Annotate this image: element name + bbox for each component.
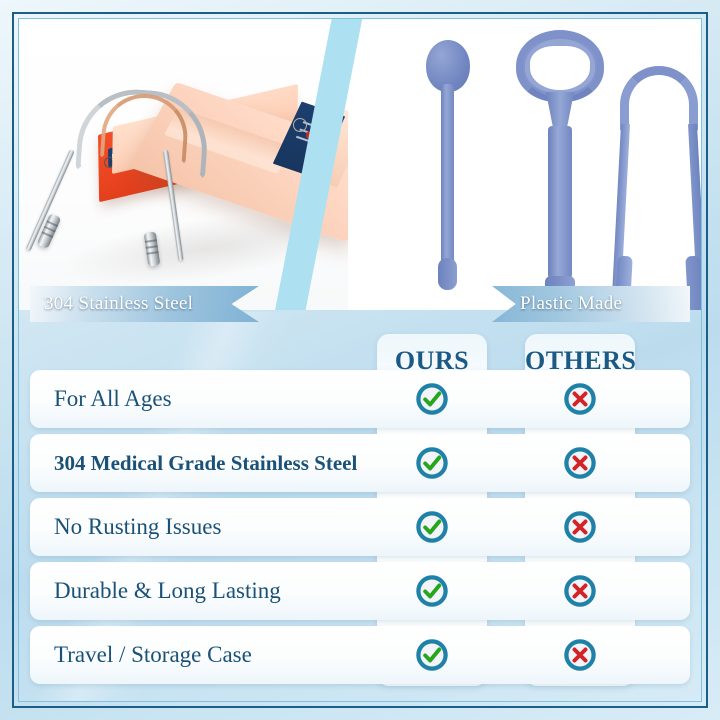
caption-banner-stainless-steel: 304 Stainless Steel	[30, 286, 259, 322]
table-row: Durable & Long Lasting	[30, 562, 690, 620]
caption-label-left: 304 Stainless Steel	[44, 293, 193, 315]
feature-label: 304 Medical Grade Stainless Steel	[30, 451, 399, 476]
cell-ours	[377, 562, 487, 620]
cross-circle-icon	[563, 574, 597, 608]
product-photo-band: BPA Free	[18, 18, 702, 310]
check-circle-icon	[415, 574, 449, 608]
comparison-infographic: BPA Free	[0, 0, 720, 720]
cross-circle-icon	[563, 638, 597, 672]
check-circle-icon	[415, 510, 449, 544]
feature-label: No Rusting Issues	[30, 514, 399, 540]
cross-circle-icon	[563, 446, 597, 480]
feature-label: For All Ages	[30, 386, 399, 412]
caption-banner-plastic: Plastic Made	[492, 286, 690, 322]
cell-ours	[377, 498, 487, 556]
feature-label: Durable & Long Lasting	[30, 578, 399, 604]
table-row: Travel / Storage Case	[30, 626, 690, 684]
caption-label-right: Plastic Made	[520, 293, 622, 315]
cell-others	[525, 626, 635, 684]
table-row: 304 Medical Grade Stainless Steel	[30, 434, 690, 492]
cell-ours	[377, 370, 487, 428]
cell-ours	[377, 626, 487, 684]
table-row: For All Ages	[30, 370, 690, 428]
cell-others	[525, 434, 635, 492]
cross-circle-icon	[563, 510, 597, 544]
comparison-table: OURS OTHERS For All Ages	[18, 312, 702, 702]
feature-label: Travel / Storage Case	[30, 642, 399, 668]
comparison-rows: For All Ages	[30, 370, 690, 690]
check-circle-icon	[415, 638, 449, 672]
check-circle-icon	[415, 446, 449, 480]
cell-ours	[377, 434, 487, 492]
cell-others	[525, 370, 635, 428]
table-row: No Rusting Issues	[30, 498, 690, 556]
cell-others	[525, 498, 635, 556]
cross-circle-icon	[563, 382, 597, 416]
check-circle-icon	[415, 382, 449, 416]
cell-others	[525, 562, 635, 620]
photo-plastic	[348, 18, 702, 310]
